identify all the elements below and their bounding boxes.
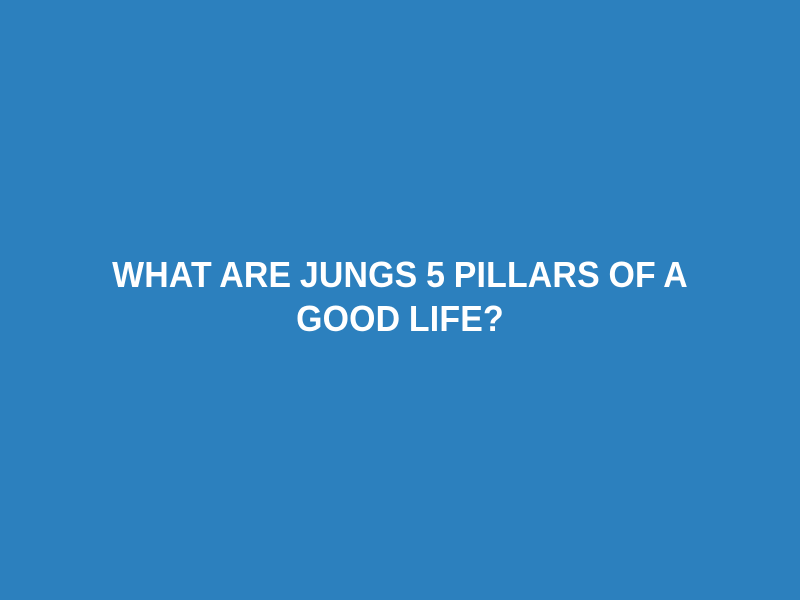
title-block: What are Jungs 5 pillars of a good life?: [60, 253, 740, 341]
article-header-banner: What are Jungs 5 pillars of a good life?: [0, 0, 800, 600]
page-title: What are Jungs 5 pillars of a good life?: [80, 253, 719, 341]
